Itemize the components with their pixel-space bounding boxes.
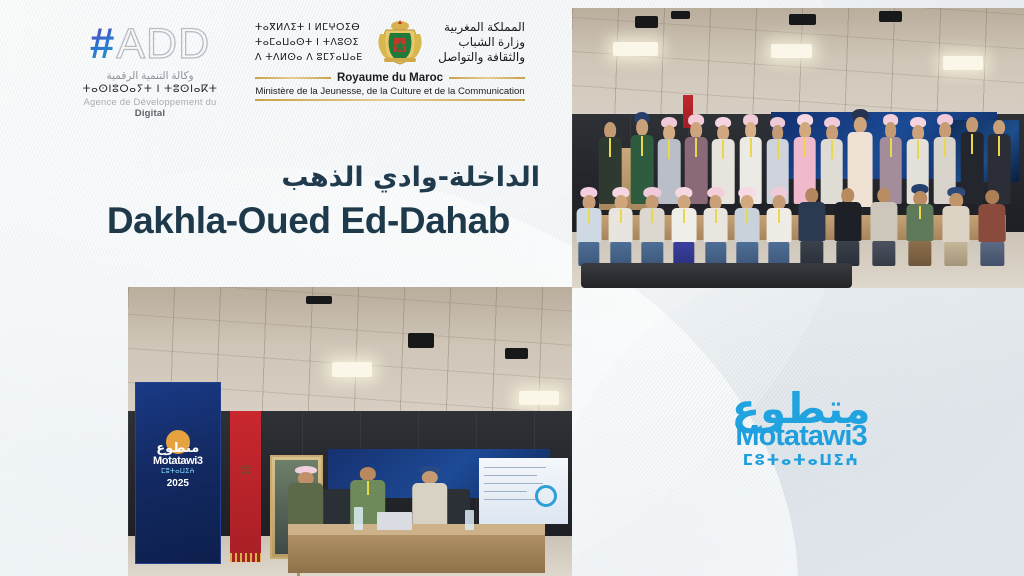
panelist — [288, 466, 324, 530]
lanyard — [831, 140, 833, 159]
track-spotlight — [306, 296, 333, 305]
lanyard — [683, 209, 685, 223]
slide-text-line — [484, 475, 537, 476]
page-title-arabic: الداخلة-وادي الذهب — [0, 162, 554, 193]
lanyard — [641, 136, 643, 156]
person-seated — [943, 187, 970, 265]
person-seated — [577, 187, 602, 265]
track-spotlight — [789, 14, 816, 25]
motatawi3-tifinagh: ⵎⵓⵜⴰⵜⴰⵡⵉⵄ — [706, 451, 896, 469]
lanyard — [778, 209, 780, 223]
add-tifinagh-tagline: ⵜⴰⵙⵏⵓⵔⴰⵢⵜ ⵏ ⵜⵓⵙⵏⴰⴽⵜ — [70, 83, 230, 95]
lanyard — [998, 136, 1000, 156]
ministry-arabic-line-2: وزارة الشباب — [438, 35, 525, 50]
lanyard — [715, 209, 717, 223]
person-seated — [834, 184, 861, 265]
laptop — [377, 512, 413, 529]
projection-screen — [479, 458, 568, 524]
pentagram-star-icon: ☆ — [239, 462, 252, 477]
lanyard — [917, 140, 919, 159]
head — [993, 120, 1005, 135]
lanyard — [919, 206, 921, 219]
track-spotlight — [671, 11, 689, 19]
person-seated — [640, 187, 665, 265]
group-photo — [572, 8, 1024, 288]
legs — [836, 241, 859, 265]
ministry-logo: ⵜⴰⴳⵍⴷⵉⵜ ⵏ ⵍⵎⵖⵔⵉⴱ ⵜⴰⵎⴰⵡⴰⵙⵜ ⵏ ⵜⴷⵓⵙⵉ ⴷ ⵜⴷⵍⵙ… — [255, 14, 525, 110]
slide-text-line — [484, 491, 527, 492]
person-seated — [979, 187, 1006, 265]
track-spotlight — [635, 16, 658, 27]
table-surface — [288, 524, 546, 535]
lanyard — [609, 138, 611, 158]
ministry-tifinagh-line-2: ⵜⴰⵎⴰⵡⴰⵙⵜ ⵏ ⵜⴷⵓⵙⵉ — [255, 35, 363, 50]
rollup-banner-text: منطوع Motatawi3 ⵎⵓⵜⴰⵡⵉⵄ 2025 — [136, 442, 220, 490]
ministry-arabic-block: المملكة المغربية وزارة الشباب والثقافة و… — [438, 20, 525, 65]
lanyard — [971, 134, 973, 154]
slide-text-line — [484, 499, 536, 500]
torso — [834, 202, 861, 241]
torso — [412, 483, 448, 530]
ministry-full-name: Ministère de la Jeunesse, de la Culture … — [255, 86, 525, 97]
ministry-royaume-row: Royaume du Maroc — [255, 72, 525, 84]
head — [841, 188, 855, 203]
gold-rule-left — [255, 77, 331, 79]
slide-text-line — [484, 483, 543, 484]
lanyard — [804, 138, 806, 158]
head — [854, 117, 866, 134]
moroccan-flag: ☆ — [230, 411, 261, 561]
ceiling-light — [519, 391, 559, 405]
ministry-tifinagh-line-1: ⵜⴰⴳⵍⴷⵉⵜ ⵏ ⵍⵎⵖⵔⵉⴱ — [255, 20, 363, 35]
conference-hall-scene-top — [572, 8, 1024, 288]
torso — [288, 483, 324, 529]
lanyard — [777, 140, 779, 159]
lanyard — [722, 140, 724, 159]
track-spotlight — [879, 11, 902, 22]
lanyard — [588, 209, 590, 223]
ministry-tifinagh-block: ⵜⴰⴳⵍⴷⵉⵜ ⵏ ⵍⵎⵖⵔⵉⴱ ⵜⴰⵎⴰⵡⴰⵙⵜ ⵏ ⵜⴷⵓⵙⵉ ⴷ ⵜⴷⵍⵙ… — [255, 20, 363, 65]
slide-text-line — [484, 467, 546, 468]
head — [877, 188, 891, 203]
track-spotlight — [408, 333, 435, 347]
water-bottle — [465, 510, 474, 530]
add-french-plain: Agence de Développement du — [83, 97, 216, 108]
gold-rule-right — [449, 77, 525, 79]
rollup-arabic: منطوع — [136, 442, 220, 455]
rollup-year: 2025 — [136, 478, 220, 490]
legs — [872, 241, 895, 265]
add-arabic-tagline: وكالة التنمية الرقمية — [70, 70, 230, 82]
person-seated — [906, 184, 933, 265]
ministry-logo-top-row: ⵜⴰⴳⵍⴷⵉⵜ ⵏ ⵍⵎⵖⵔⵉⴱ ⵜⴰⵎⴰⵡⴰⵙⵜ ⵏ ⵜⴷⵓⵙⵉ ⴷ ⵜⴷⵍⵙ… — [255, 14, 525, 70]
person-seated — [870, 184, 897, 265]
add-french-bold: Digital — [135, 108, 165, 119]
panel-table — [288, 524, 546, 573]
lanyard — [746, 209, 748, 223]
foreground-sofa — [581, 263, 852, 288]
lanyard — [750, 138, 752, 158]
person-seated — [608, 187, 633, 265]
slide-root: # ADD وكالة التنمية الرقمية ⵜⴰⵙⵏⵓⵔⴰⵢⵜ ⵏ … — [0, 0, 1024, 576]
head — [360, 467, 376, 480]
gold-rule-bottom — [255, 99, 525, 101]
lanyard — [668, 140, 670, 159]
royaume-du-maroc-label: Royaume du Maroc — [337, 72, 443, 84]
head — [986, 190, 1000, 204]
legs — [981, 242, 1004, 266]
conference-hall-scene-bottom: منطوع Motatawi3 ⵎⵓⵜⴰⵡⵉⵄ 2025 ☆ — [128, 287, 572, 576]
rollup-banner: منطوع Motatawi3 ⵎⵓⵜⴰⵡⵉⵄ 2025 — [135, 382, 221, 563]
ceiling-light — [943, 56, 984, 70]
torso — [979, 204, 1006, 242]
legs — [908, 241, 931, 265]
track-spotlight — [505, 348, 527, 360]
page-title-latin: Dakhla-Oued Ed-Dahab — [0, 200, 524, 242]
torso — [943, 206, 970, 242]
add-agency-logo: # ADD وكالة التنمية الرقمية ⵜⴰⵙⵏⵓⵔⴰⵢⵜ ⵏ … — [70, 22, 230, 108]
lanyard — [695, 138, 697, 158]
ministry-arabic-line-3: والثقافة والتواصل — [438, 50, 525, 65]
lanyard — [651, 209, 653, 223]
hash-icon: # — [90, 25, 114, 63]
rollup-latin: Motatawi3 — [136, 455, 220, 467]
panel-session-photo: منطوع Motatawi3 ⵎⵓⵜⴰⵡⵉⵄ 2025 ☆ — [128, 287, 572, 576]
person-seated — [766, 187, 791, 265]
head — [966, 117, 978, 133]
person-seated — [735, 187, 760, 265]
add-french-tagline: Agence de Développement du Digital — [70, 97, 230, 119]
person-seated — [671, 187, 696, 265]
ceiling-light — [613, 42, 658, 56]
torso — [870, 202, 897, 241]
flag-fringe — [230, 553, 261, 562]
head — [805, 188, 819, 203]
motatawi3-logo: متطوع Motatawi3 ⵎⵓⵜⴰⵜⴰⵡⵉⵄ — [706, 388, 896, 486]
panelist — [412, 466, 448, 530]
legs — [800, 241, 823, 265]
ceiling-light — [332, 362, 372, 376]
lanyard — [620, 209, 622, 223]
add-wordmark: # ADD — [70, 22, 230, 66]
person-seated — [703, 187, 728, 265]
person-seated — [798, 184, 825, 265]
morocco-coat-of-arms-icon — [372, 14, 428, 70]
rollup-tifinagh: ⵎⵓⵜⴰⵡⵉⵄ — [136, 467, 220, 476]
water-bottle — [354, 507, 363, 530]
ministry-tifinagh-line-3: ⴷ ⵜⴷⵍⵙⴰ ⴷ ⵓⵎⵢⴰⵡⴰⴹ — [255, 50, 363, 65]
legs — [945, 242, 968, 266]
add-letters: ADD — [116, 25, 210, 63]
lanyard — [367, 481, 369, 495]
torso — [798, 202, 825, 241]
gear-icon — [535, 485, 557, 507]
head — [636, 119, 648, 136]
lanyard — [944, 138, 946, 158]
ceiling-light — [771, 44, 812, 58]
lanyard — [890, 138, 892, 158]
ministry-arabic-line-1: المملكة المغربية — [438, 20, 525, 35]
